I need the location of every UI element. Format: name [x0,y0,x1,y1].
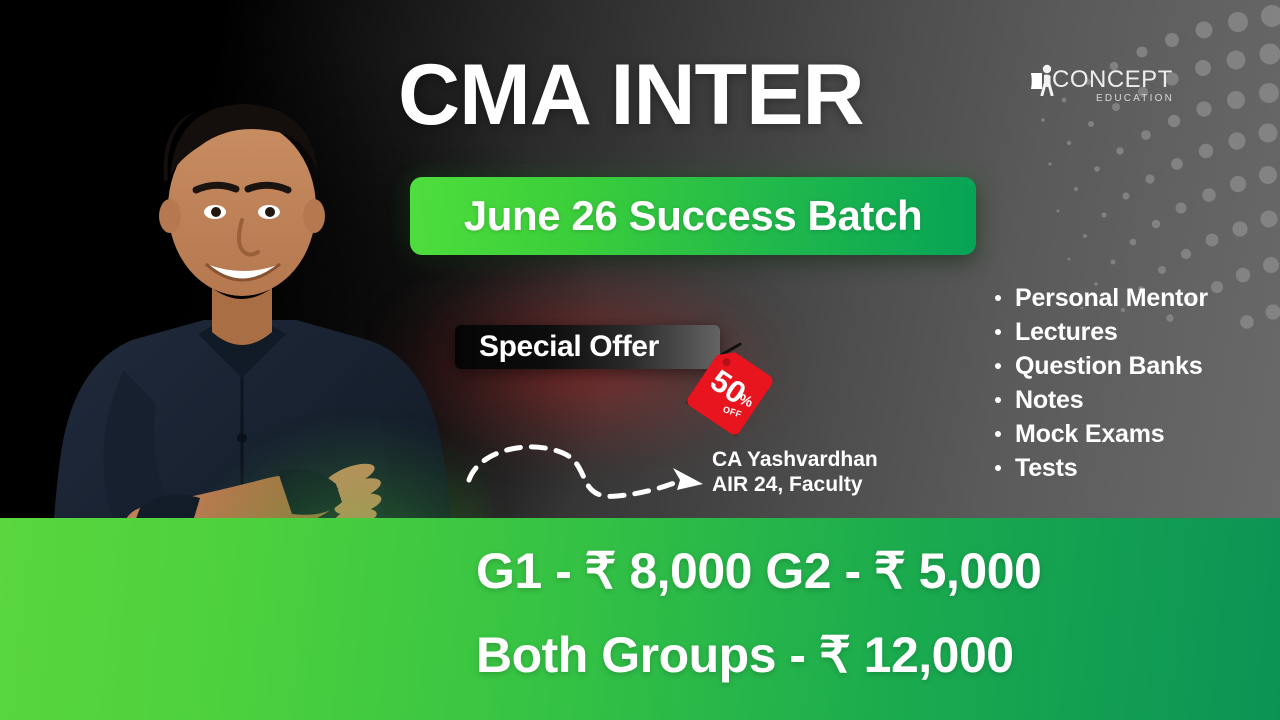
special-offer-badge: Special Offer [455,325,720,369]
list-item: Notes [995,383,1265,417]
bullet-icon [995,295,1001,301]
bullet-icon [995,465,1001,471]
price-line-groups: G1 - ₹ 8,000 G2 - ₹ 5,000 [476,546,1176,596]
batch-badge-label: June 26 Success Batch [464,192,923,240]
faculty-role: AIR 24, Faculty [712,473,878,498]
feature-label: Personal Mentor [1015,284,1208,313]
batch-badge: June 26 Success Batch [410,177,976,255]
brand-logo[interactable]: CONCEPT EDUCATION [1030,62,1180,114]
dashed-arrow-icon [465,432,715,512]
list-item: Mock Exams [995,417,1265,451]
faculty-credit: CA Yashvardhan AIR 24, Faculty [712,448,878,498]
logo-wordmark: CONCEPT [1052,66,1173,94]
feature-label: Tests [1015,454,1077,483]
feature-label: Question Banks [1015,352,1203,381]
faculty-name: CA Yashvardhan [712,448,878,473]
list-item: Question Banks [995,349,1265,383]
list-item: Tests [995,451,1265,485]
logo-tagline: EDUCATION [1096,93,1174,104]
page-title: CMA INTER [398,52,864,138]
list-item: Personal Mentor [995,281,1265,315]
pricing-block: G1 - ₹ 8,000 G2 - ₹ 5,000 Both Groups - … [476,546,1176,680]
bullet-icon [995,397,1001,403]
feature-label: Mock Exams [1015,420,1164,449]
feature-label: Lectures [1015,318,1118,347]
bullet-icon [995,363,1001,369]
bullet-icon [995,431,1001,437]
special-offer-label: Special Offer [455,330,659,364]
list-item: Lectures [995,315,1265,349]
bullet-icon [995,329,1001,335]
feature-list: Personal Mentor Lectures Question Banks … [995,281,1265,485]
price-line-both-groups: Both Groups - ₹ 12,000 [476,630,1176,680]
promo-banner: CONCEPT EDUCATION [0,0,1280,720]
feature-label: Notes [1015,386,1083,415]
